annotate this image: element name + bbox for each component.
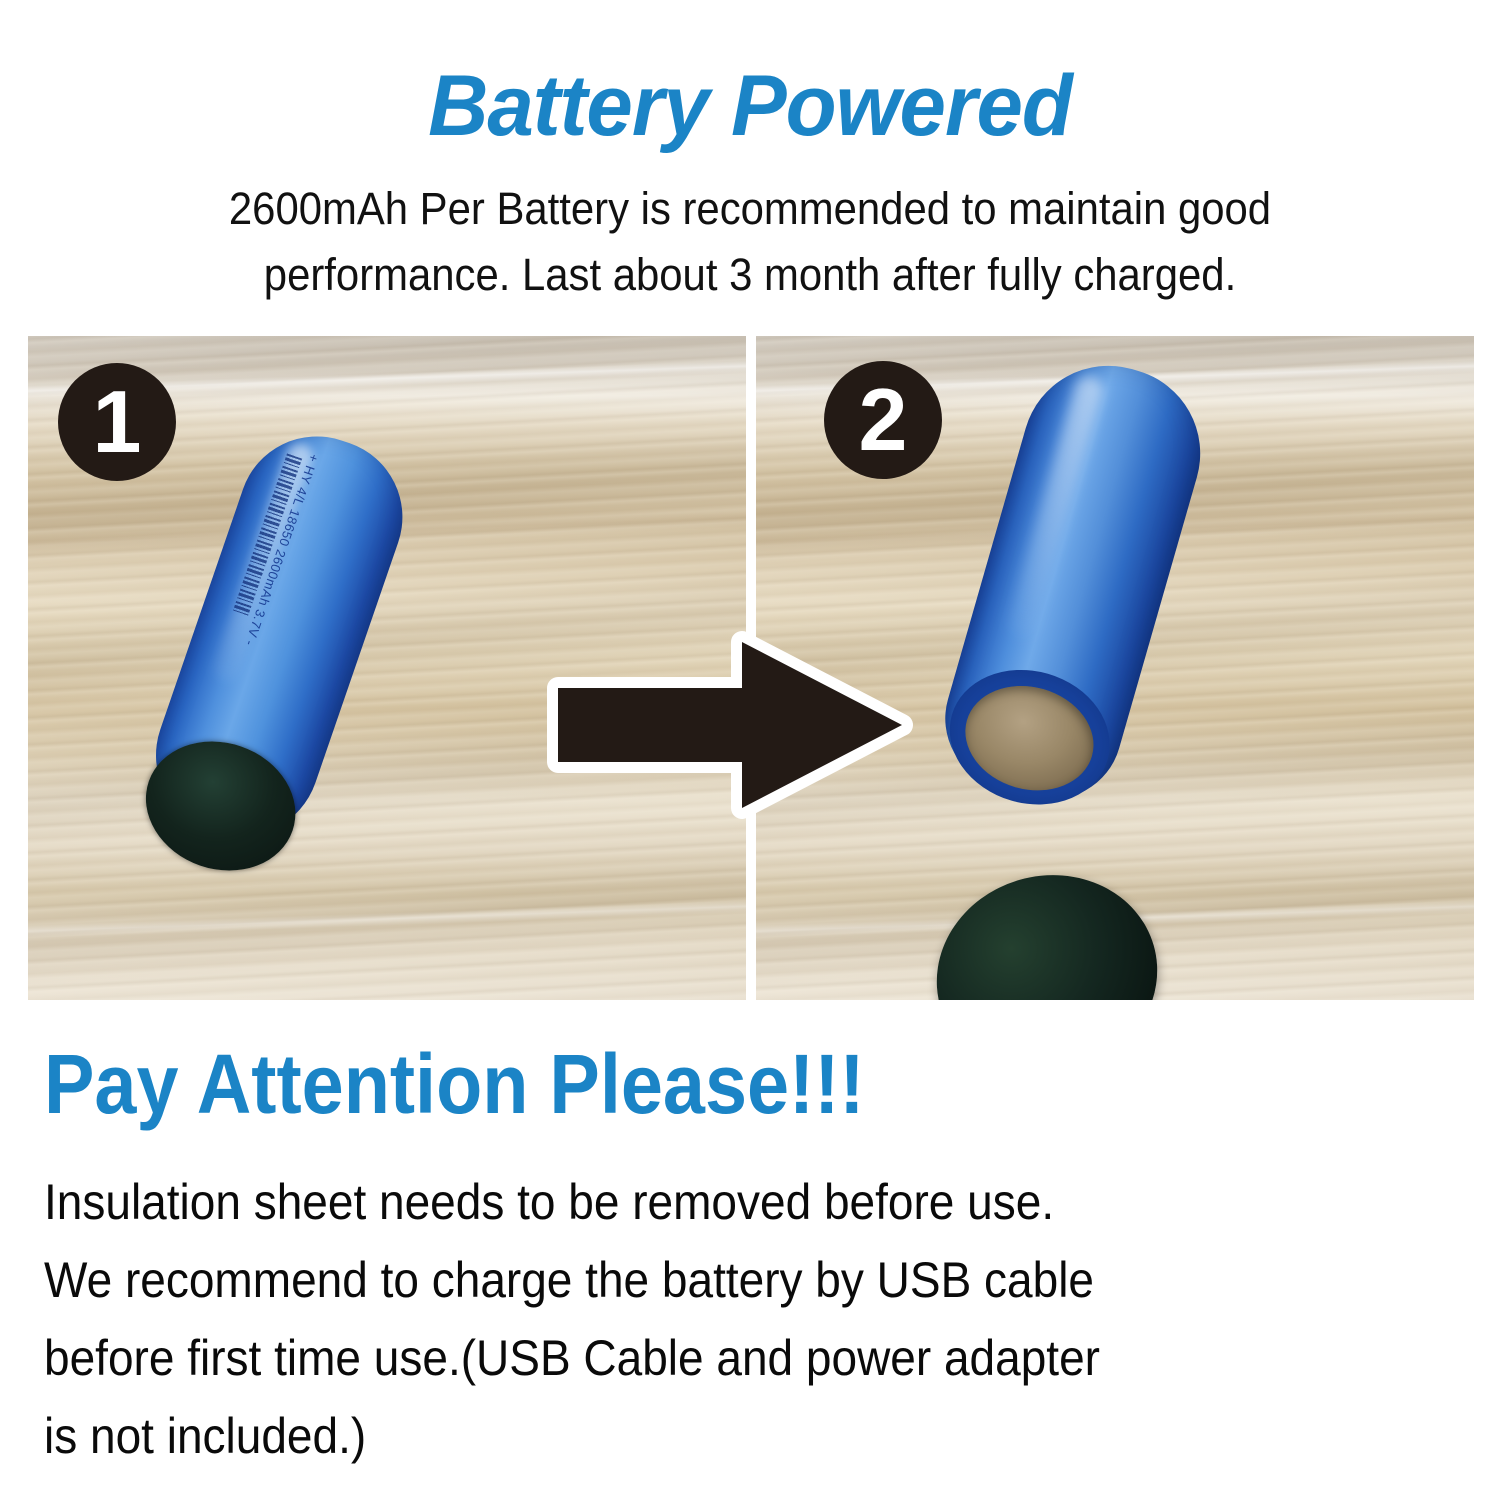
page-title: Battery Powered [23,56,1478,156]
page-subtitle: 2600mAh Per Battery is recommended to ma… [173,176,1326,308]
infographic-page: Battery Powered 2600mAh Per Battery is r… [0,0,1500,1500]
step-badge-2: 2 [824,361,942,479]
step-arrow [540,630,920,820]
attention-line: is not included.) [44,1397,1350,1475]
step-badge-1: 1 [58,363,176,481]
attention-body: Insulation sheet needs to be removed bef… [44,1163,1350,1475]
attention-line: Insulation sheet needs to be removed bef… [44,1163,1350,1241]
attention-line: We recommend to charge the battery by US… [44,1241,1350,1319]
attention-line: before first time use.(USB Cable and pow… [44,1319,1350,1397]
attention-heading: Pay Attention Please!!! [44,1032,865,1136]
arrow-right-icon [540,630,920,820]
